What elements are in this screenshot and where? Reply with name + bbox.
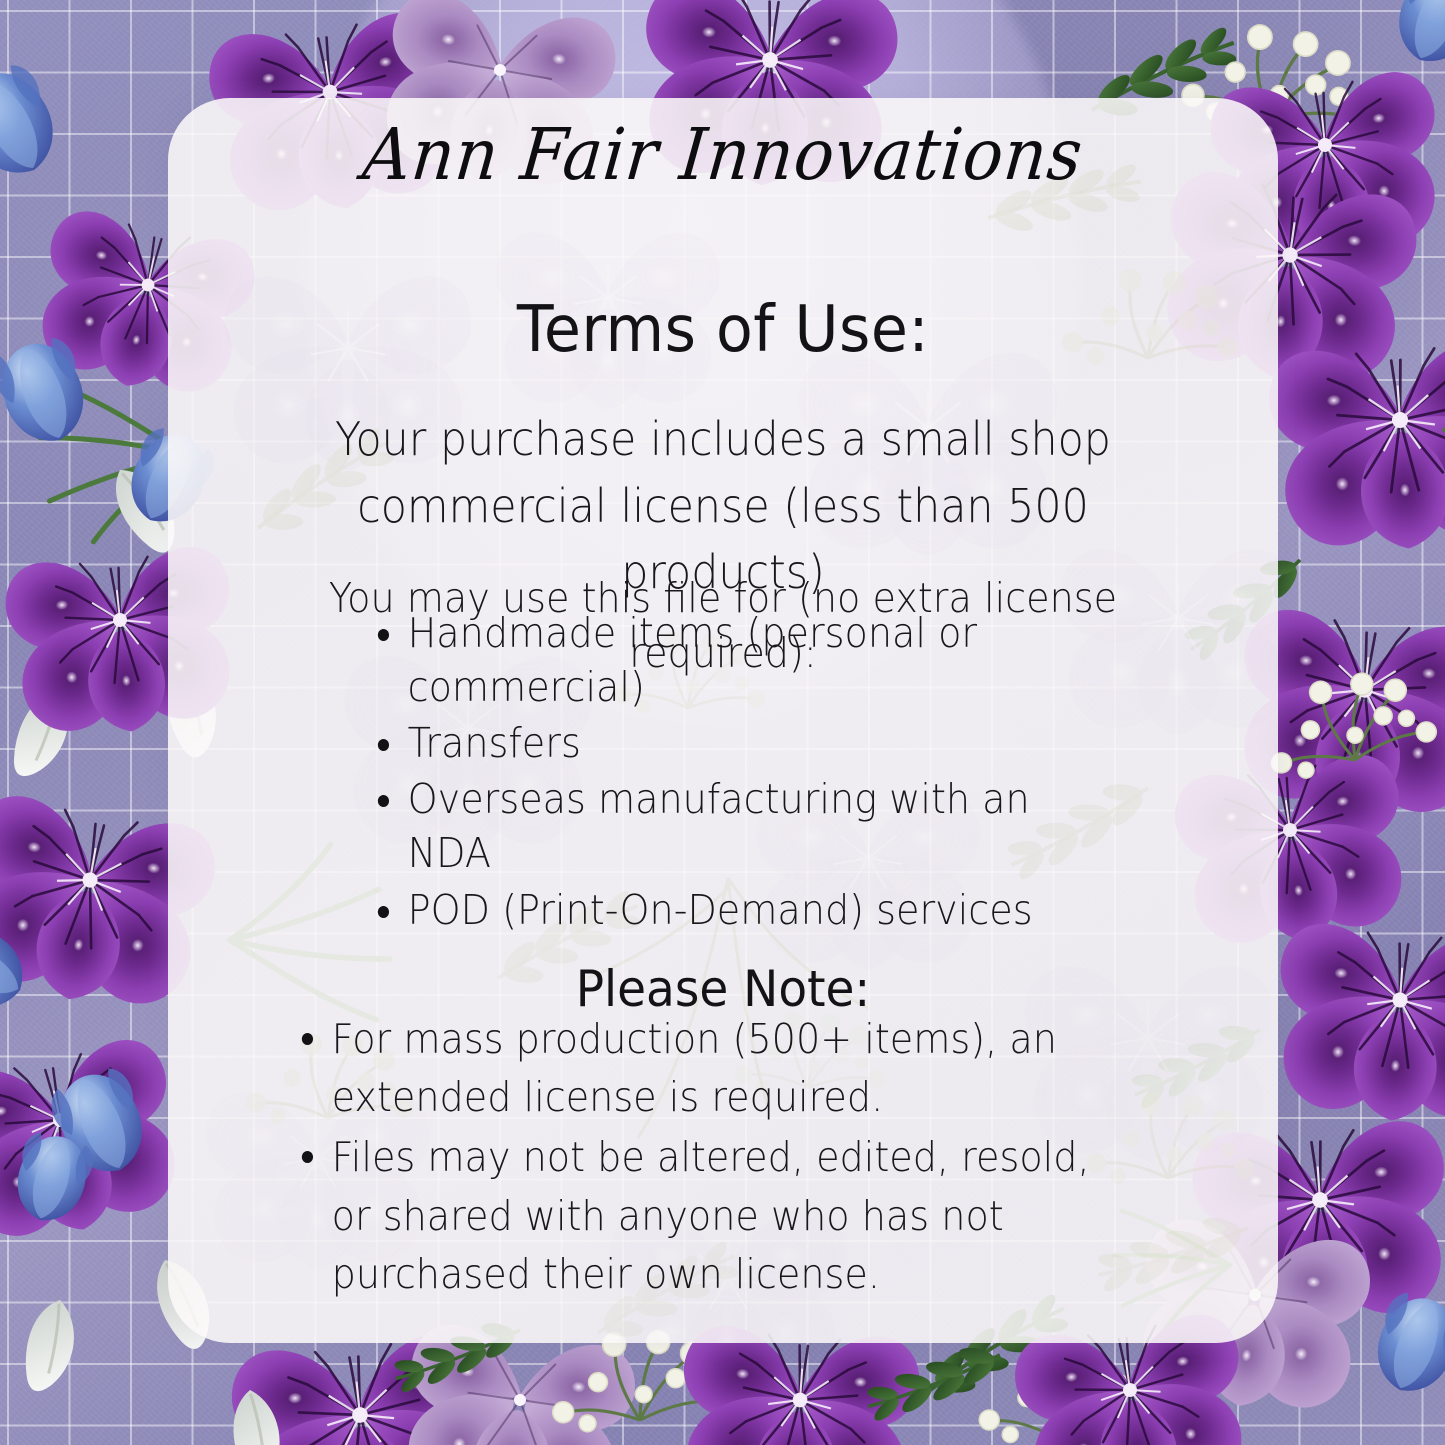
list-item: Overseas manufacturing with an NDA [376, 772, 1083, 880]
list-item: Transfers [376, 716, 1083, 770]
please-note-heading: Please Note: [201, 960, 1244, 1018]
list-item: For mass production (500+ items), an ext… [300, 1010, 1100, 1126]
list-item: Handmade items (personal or commercial) [376, 606, 1083, 714]
allowed-uses-list: Handmade items (personal or commercial) … [376, 606, 1136, 939]
page-title: Terms of Use: [201, 293, 1244, 367]
card-content: Ann Fair Innovations Terms of Use: Your … [168, 98, 1278, 1343]
list-item: POD (Print-On-Demand) services [376, 883, 1083, 937]
list-item: Files may not be altered, edited, resold… [300, 1128, 1100, 1303]
terms-card: Ann Fair Innovations Terms of Use: Your … [168, 98, 1278, 1343]
notes-list: For mass production (500+ items), an ext… [300, 1010, 1160, 1305]
brand-title: Ann Fair Innovations [168, 113, 1278, 196]
poster-canvas: Ann Fair Innovations Terms of Use: Your … [0, 0, 1445, 1445]
